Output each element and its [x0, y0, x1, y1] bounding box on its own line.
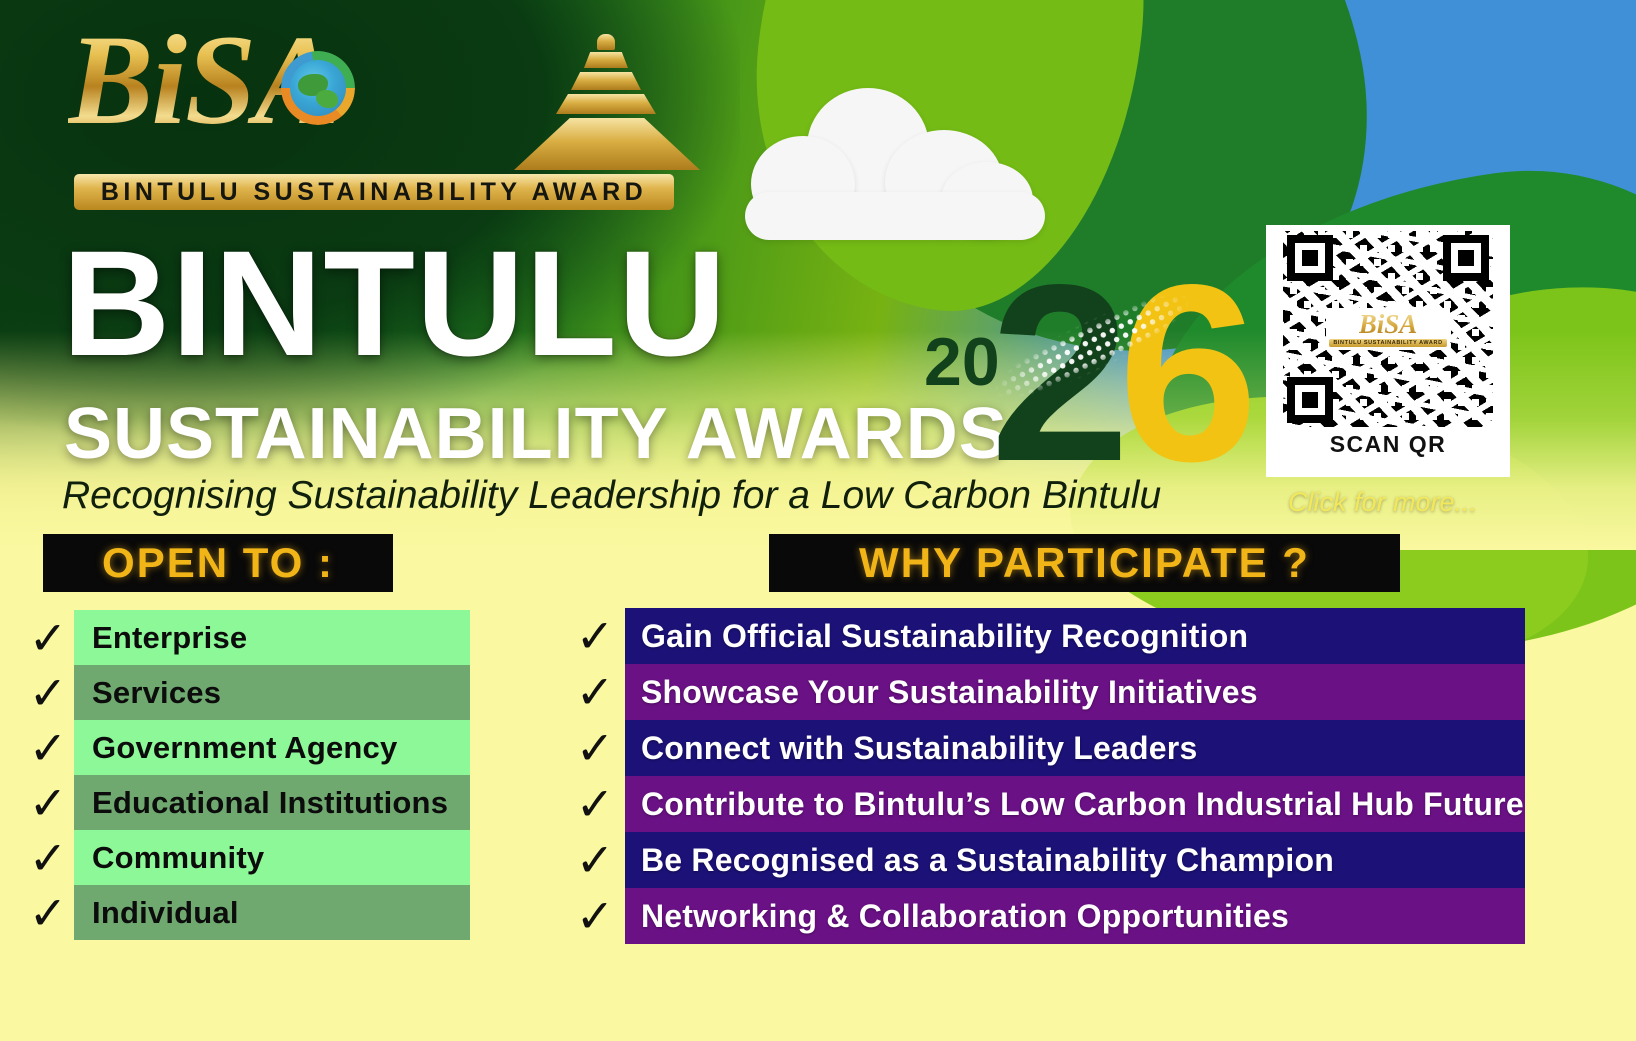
why-participate-header: WHY PARTICIPATE ? [769, 534, 1400, 592]
check-icon: ✓ [22, 780, 74, 826]
why-participate-pill: Be Recognised as a Sustainability Champi… [625, 832, 1525, 888]
open-to-pill: Enterprise [74, 610, 470, 665]
open-to-list: ✓ Enterprise ✓ Services ✓ Government Age… [22, 610, 470, 940]
why-participate-list: ✓ Gain Official Sustainability Recogniti… [565, 608, 1525, 944]
open-to-label: Services [92, 675, 221, 711]
check-icon: ✓ [565, 669, 625, 715]
list-item[interactable]: ✓ Enterprise [22, 610, 470, 665]
list-item[interactable]: ✓ Government Agency [22, 720, 470, 775]
why-participate-label: Networking & Collaboration Opportunities [641, 898, 1289, 935]
why-participate-label: Be Recognised as a Sustainability Champi… [641, 842, 1334, 879]
year-2026: 2 6 20 [912, 238, 1232, 508]
why-participate-pill: Gain Official Sustainability Recognition [625, 608, 1525, 664]
page-title: BINTULU [62, 228, 727, 378]
logo-wordmark-text: BINTULU SUSTAINABILITY AWARD [101, 178, 647, 207]
qr-code-image[interactable]: BiSA BINTULU SUSTAINABILITY AWARD [1283, 231, 1493, 427]
logo-wordmark-bar: BINTULU SUSTAINABILITY AWARD [74, 174, 674, 210]
qr-caption: SCAN QR [1330, 431, 1447, 458]
check-icon: ✓ [565, 781, 625, 827]
list-item[interactable]: ✓ Services [22, 665, 470, 720]
qr-click-for-more-link[interactable]: Click for more... [1288, 487, 1477, 518]
qr-finder-top-right [1443, 235, 1489, 281]
list-item[interactable]: ✓ Showcase Your Sustainability Initiativ… [565, 664, 1525, 720]
why-participate-label: Contribute to Bintulu’s Low Carbon Indus… [641, 786, 1524, 823]
check-icon: ✓ [22, 835, 74, 881]
list-item[interactable]: ✓ Educational Institutions [22, 775, 470, 830]
globe-icon [290, 60, 346, 116]
list-item[interactable]: ✓ Be Recognised as a Sustainability Cham… [565, 832, 1525, 888]
list-item[interactable]: ✓ Connect with Sustainability Leaders [565, 720, 1525, 776]
list-item[interactable]: ✓ Community [22, 830, 470, 885]
open-to-pill: Individual [74, 885, 470, 940]
open-to-pill: Services [74, 665, 470, 720]
flare-tower-icon [500, 32, 730, 172]
check-icon: ✓ [565, 893, 625, 939]
qr-embedded-logo: BiSA BINTULU SUSTAINABILITY AWARD [1326, 308, 1450, 350]
why-participate-pill: Networking & Collaboration Opportunities [625, 888, 1525, 944]
list-item[interactable]: ✓ Individual [22, 885, 470, 940]
year-prefix-20: 20 [924, 328, 1000, 396]
open-to-label: Community [92, 840, 264, 876]
bisa-logo: BiSA BINTULU SUSTAINABILITY AWARD [68, 22, 688, 217]
why-participate-pill: Contribute to Bintulu’s Low Carbon Indus… [625, 776, 1525, 832]
open-to-label: Government Agency [92, 730, 397, 766]
list-item[interactable]: ✓ Gain Official Sustainability Recogniti… [565, 608, 1525, 664]
open-to-pill: Educational Institutions [74, 775, 470, 830]
open-to-label: Individual [92, 895, 239, 931]
qr-logo-bar-text: BINTULU SUSTAINABILITY AWARD [1329, 339, 1446, 347]
qr-finder-bottom-left [1287, 377, 1333, 423]
check-icon: ✓ [22, 725, 74, 771]
poster-canvas: BiSA BINTULU SUSTAINABILITY AWARD BINTUL… [0, 0, 1636, 1041]
open-to-label: Educational Institutions [92, 785, 448, 821]
why-participate-label: Gain Official Sustainability Recognition [641, 618, 1248, 655]
open-to-header-text: OPEN TO : [102, 539, 334, 587]
why-participate-header-text: WHY PARTICIPATE ? [859, 539, 1310, 587]
check-icon: ✓ [22, 890, 74, 936]
why-participate-pill: Showcase Your Sustainability Initiatives [625, 664, 1525, 720]
qr-panel[interactable]: BiSA BINTULU SUSTAINABILITY AWARD SCAN Q… [1266, 225, 1510, 477]
why-participate-pill: Connect with Sustainability Leaders [625, 720, 1525, 776]
logo-mark: BiSA [68, 22, 688, 170]
check-icon: ✓ [565, 725, 625, 771]
list-item[interactable]: ✓ Networking & Collaboration Opportuniti… [565, 888, 1525, 944]
cloud-icon [745, 88, 1045, 238]
page-subtitle: SUSTAINABILITY AWARDS [64, 398, 1008, 470]
qr-logo-letters: BiSA [1359, 311, 1418, 338]
why-participate-label: Connect with Sustainability Leaders [641, 730, 1197, 767]
check-icon: ✓ [22, 670, 74, 716]
open-to-pill: Government Agency [74, 720, 470, 775]
list-item[interactable]: ✓ Contribute to Bintulu’s Low Carbon Ind… [565, 776, 1525, 832]
qr-finder-top-left [1287, 235, 1333, 281]
open-to-header: OPEN TO : [43, 534, 393, 592]
open-to-pill: Community [74, 830, 470, 885]
check-icon: ✓ [565, 613, 625, 659]
open-to-label: Enterprise [92, 620, 247, 656]
check-icon: ✓ [22, 615, 74, 661]
why-participate-label: Showcase Your Sustainability Initiatives [641, 674, 1258, 711]
check-icon: ✓ [565, 837, 625, 883]
